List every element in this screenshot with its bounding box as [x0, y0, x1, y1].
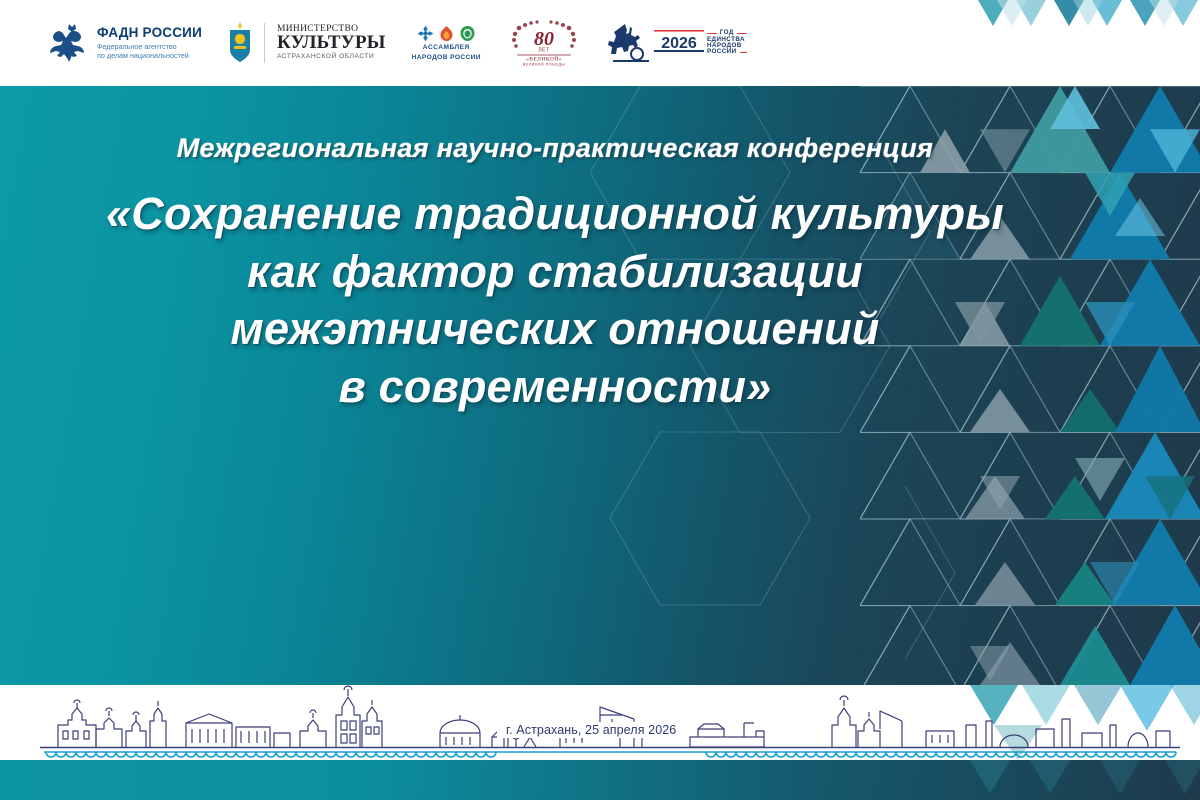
year-2026-number: 2026 — [654, 30, 704, 52]
headline-line-2: как фактор стабилизации — [0, 243, 1110, 301]
partner-logos: ФАДН РОССИИ Федеральное агентство по дел… — [48, 0, 747, 86]
headline-line-1: «Сохранение традиционной культуры — [0, 185, 1110, 243]
headline-line-4: в современности» — [0, 358, 1110, 416]
logo-fadn: ФАДН РОССИИ Федеральное агентство по дел… — [48, 17, 202, 69]
assembly-emblems — [417, 25, 476, 42]
ministry-line2: КУЛЬТУРЫ — [277, 33, 386, 52]
astrakhan-coat-of-arms-icon — [228, 22, 252, 64]
header-logo-bar: ФАДН РОССИИ Федеральное агентство по дел… — [0, 0, 1200, 86]
header-triangle-pattern — [970, 0, 1200, 86]
logo-anniversary-80: 80 ЛЕТ «ВЕЛИКОЙ» ВЕЛИКОЙ ПОБЕДЫ — [507, 17, 581, 69]
assembly-blue-emblem-icon — [417, 25, 434, 42]
assembly-line2: НАРОДОВ РОССИИ — [412, 54, 481, 61]
conference-headline: «Сохранение традиционной культуры как фа… — [0, 185, 1110, 415]
conference-kicker: Межрегиональная научно-практическая конф… — [0, 133, 1110, 164]
fadn-title: ФАДН РОССИИ — [97, 26, 202, 40]
double-headed-eagle-icon — [48, 21, 90, 65]
wave-ribbon — [44, 752, 1176, 757]
headline-line-3: межэтнических отношений — [0, 300, 1110, 358]
svg-text:«ВЕЛИКОЙ»: «ВЕЛИКОЙ» — [526, 55, 562, 63]
svg-text:ВЕЛИКОЙ ПОБЕДЫ: ВЕЛИКОЙ ПОБЕДЫ — [523, 63, 565, 67]
assembly-flame-emblem-icon — [438, 25, 455, 42]
logo-assembly-of-peoples: АССАМБЛЕЯ НАРОДОВ РОССИИ — [412, 17, 481, 69]
logo-year-2026: 2026 ГОД ЕДИНСТВА НАРОДОВ РОССИИ — [607, 17, 747, 69]
ministry-line3: АСТРАХАНСКОЙ ОБЛАСТИ — [277, 54, 386, 61]
fadn-subtitle-line1: Федеральное агентство — [97, 42, 202, 51]
assembly-line1: АССАМБЛЕЯ — [423, 44, 470, 51]
svg-text:ЛЕТ: ЛЕТ — [538, 48, 550, 54]
venue-date: г. Астрахань, 25 апреля 2026 — [497, 722, 685, 738]
fadn-subtitle-line2: по делам национальностей — [97, 51, 202, 60]
assembly-tree-emblem-icon — [459, 25, 476, 42]
logo-ministry-of-culture: МИНИСТЕРСТВО КУЛЬТУРЫ АСТРАХАНСКОЙ ОБЛАС… — [228, 17, 386, 69]
monument-silhouette-icon — [607, 21, 651, 65]
anniversary-80-wreath-icon: 80 ЛЕТ «ВЕЛИКОЙ» ВЕЛИКОЙ ПОБЕДЫ — [507, 19, 581, 67]
conference-poster: ФАДН РОССИИ Федеральное агентство по дел… — [0, 0, 1200, 800]
svg-text:2026: 2026 — [661, 35, 697, 52]
footer-triangle-pattern — [970, 760, 1200, 800]
footer-bar — [0, 760, 1200, 800]
logo-divider — [264, 23, 265, 63]
year2026-line4: РОССИИ — [707, 49, 747, 55]
